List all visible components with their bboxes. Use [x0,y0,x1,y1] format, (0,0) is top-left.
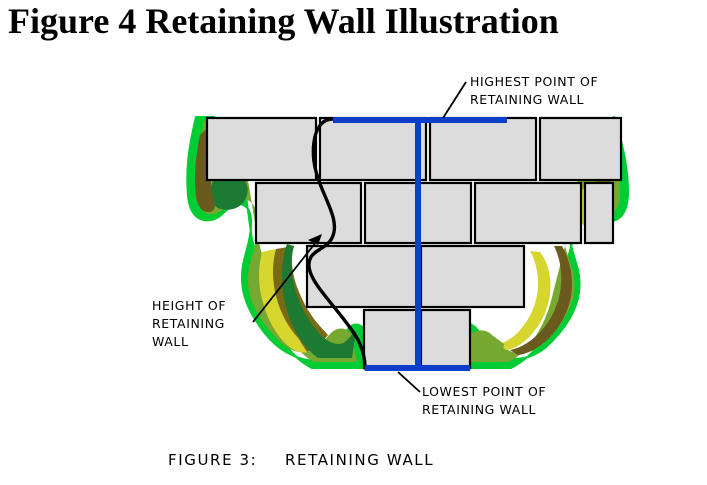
wall-course-1 [207,118,621,180]
wall-block [430,118,536,180]
wall-block [475,183,581,243]
wall-block [207,118,316,180]
height-of-wall-label-line1: HEIGHT OF [152,298,226,313]
height-of-wall-label-line3: WALL [152,334,189,349]
wall-block [421,246,524,307]
figure-caption: FIGURE 3: RETAINING WALL [168,451,434,469]
wall-block [307,246,417,307]
wall-block [256,183,361,243]
height-of-wall-label-line2: RETAINING [152,316,225,331]
wall-course-2 [256,183,613,243]
wall-block [585,183,613,243]
wall-block [364,310,417,368]
annotation-height-of-wall: HEIGHT OF RETAINING WALL [152,298,226,349]
lowest-point-label-line1: LOWEST POINT OF [422,384,546,399]
lowest-point-label-line2: RETAINING WALL [422,402,536,417]
lowest-point-leader [398,372,420,392]
wall-block [320,118,426,180]
caption-label: FIGURE 3: [168,451,257,469]
retaining-wall-diagram: HIGHEST POINT OF RETAINING WALL HEIGHT O… [0,0,707,485]
highest-point-label-line2: RETAINING WALL [470,92,584,107]
annotation-lowest-point: LOWEST POINT OF RETAINING WALL [422,384,546,417]
caption-subject: RETAINING WALL [285,451,434,469]
wall-block [421,310,470,368]
highest-point-leader [443,82,466,118]
highest-point-label-line1: HIGHEST POINT OF [470,74,598,89]
figure-page: Figure 4 Retaining Wall Illustration [0,0,707,485]
annotation-highest-point: HIGHEST POINT OF RETAINING WALL [470,74,598,107]
wall-block [540,118,621,180]
